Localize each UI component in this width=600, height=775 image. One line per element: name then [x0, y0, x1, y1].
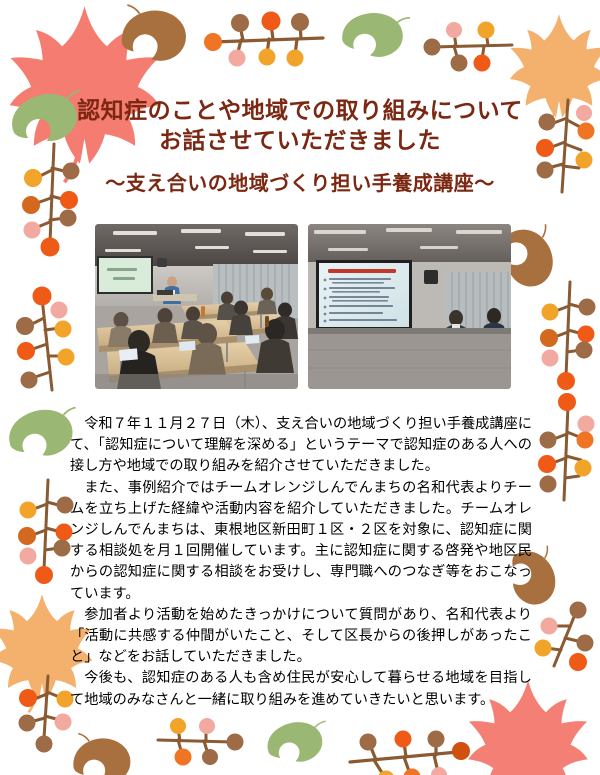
berry-branch-horizontal-icon: [204, 12, 323, 67]
berry-branch-vertical-icon: [536, 100, 595, 192]
berry-branch-vertical-icon: [16, 287, 75, 391]
photo-row: [95, 224, 515, 392]
photo-presentation-screen: [308, 224, 511, 389]
brown-leaf-icon: [122, 5, 185, 61]
photo-lecture-room-audience: [95, 224, 298, 389]
berry-branch-vertical-icon: [540, 282, 596, 390]
page-title-line-1: 認知症のことや地域での取り組みについて: [60, 96, 540, 126]
green-leaf-icon: [343, 13, 410, 56]
body-paragraph-2: また、事例紹介ではチームオレンジしんでんまちの名和代表よりチームを立ち上げた経緯…: [70, 478, 532, 605]
berry-branch-vertical-icon: [538, 393, 595, 500]
berry-branch-vertical-icon: [18, 480, 74, 584]
page-title-line-2: お話させていただきました: [60, 126, 540, 156]
berry-branch-horizontal-icon: [158, 718, 244, 766]
berry-branch-horizontal-icon: [424, 22, 513, 72]
body-paragraph-3: 参加者より活動を始めたきっかけについて質問があり、名和代表より「活動に共感する仲…: [70, 605, 532, 669]
berry-branch-horizontal-icon: [350, 731, 470, 775]
berry-branch-vertical-icon: [535, 602, 594, 672]
green-leaf-icon: [264, 717, 331, 766]
flyer-title-block: 認知症のことや地域での取り組みについて お話させていただきました 〜支え合いの地…: [60, 96, 540, 196]
body-text: 令和７年１１月２７日（木）、支え合いの地域づくり担い手養成講座にて、「認知症につ…: [70, 414, 532, 711]
body-paragraph-4: 今後も、認知症のある人も含め住民が安心して暮らせる地域を目指して地域のみなさんと…: [70, 668, 532, 710]
brown-leaf-icon: [74, 734, 130, 775]
page-subtitle: 〜支え合いの地域づくり担い手養成講座〜: [60, 170, 540, 196]
flyer-page: 認知症のことや地域での取り組みについて お話させていただきました 〜支え合いの地…: [0, 0, 600, 775]
body-paragraph-1: 令和７年１１月２７日（木）、支え合いの地域づくり担い手養成講座にて、「認知症につ…: [70, 414, 532, 478]
berry-branch-vertical-icon: [19, 676, 74, 753]
